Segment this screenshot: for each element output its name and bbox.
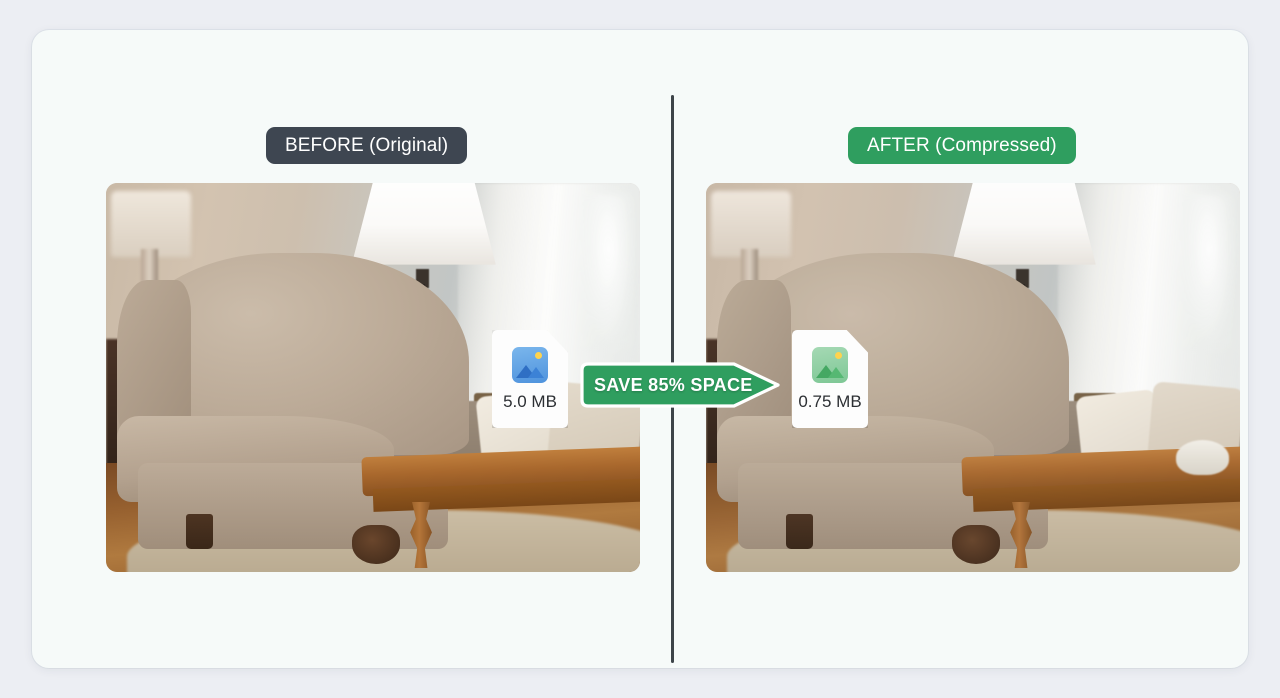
after-file-size: 0.75 MB <box>798 392 861 412</box>
decorative-bowl <box>1176 440 1229 475</box>
image-file-icon <box>812 347 848 383</box>
before-panel: BEFORE (Original) <box>32 30 672 668</box>
before-badge: BEFORE (Original) <box>266 127 467 164</box>
before-file-card: 5.0 MB <box>492 330 568 428</box>
after-badge: AFTER (Compressed) <box>848 127 1076 164</box>
comparison-card: BEFORE (Original) <box>32 30 1248 668</box>
armchair-leg <box>186 514 213 549</box>
savings-arrow-banner: SAVE 85% SPACE <box>576 360 784 410</box>
table-lamp-shade <box>352 183 496 265</box>
after-file-card: 0.75 MB <box>792 330 868 428</box>
living-room-scene-after <box>706 183 1240 572</box>
background-lamp-shade <box>711 191 791 257</box>
sun-glyph <box>535 352 542 359</box>
after-photo <box>706 183 1240 572</box>
armchair-leg <box>352 525 400 564</box>
sun-glyph <box>835 352 842 359</box>
background-lamp-shade <box>111 191 191 257</box>
mountain-glyph <box>816 362 844 378</box>
armchair-leg <box>952 525 1000 564</box>
savings-arrow-label: SAVE 85% SPACE <box>594 360 753 410</box>
image-file-icon <box>512 347 548 383</box>
after-panel: AFTER (Compressed) <box>632 30 1248 668</box>
armchair-leg <box>786 514 813 549</box>
before-file-size: 5.0 MB <box>503 392 557 412</box>
mountain-glyph <box>516 362 544 378</box>
table-lamp-shade <box>952 183 1096 265</box>
